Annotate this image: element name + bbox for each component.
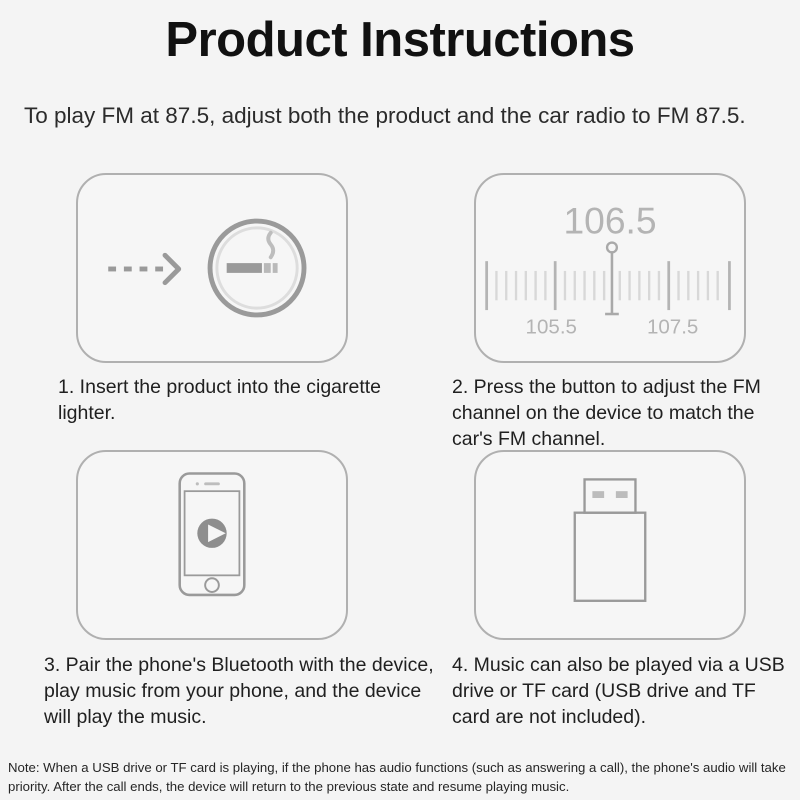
step-3-caption: 3. Pair the phone's Bluetooth with the d…: [44, 652, 434, 730]
home-button: [205, 578, 219, 592]
step-3-illustration-panel: [76, 450, 348, 640]
fm-scale-label-left: 105.5: [526, 316, 577, 339]
usb-flash-drive-icon: [476, 452, 744, 638]
footer-note: Note: When a USB drive or TF card is pla…: [8, 758, 794, 796]
play-button-icon: [197, 519, 226, 548]
cigarette-lighter-socket-icon: [78, 175, 346, 361]
step-1-illustration-panel: [76, 173, 348, 363]
product-instructions-page: Product Instructions To play FM at 87.5,…: [0, 0, 800, 800]
fm-tuner-dial-icon: 106.5: [476, 175, 744, 361]
usb-body: [575, 513, 645, 601]
step-2-caption: 2. Press the button to adjust the FM cha…: [452, 374, 797, 452]
tuner-major-ticks: [487, 261, 730, 310]
tuner-needle: [605, 243, 619, 314]
step-2-illustration-panel: 106.5: [474, 173, 746, 363]
front-camera: [196, 482, 199, 485]
earpiece-speaker: [204, 482, 220, 485]
dashed-arrow-icon: [108, 255, 178, 282]
intro-paragraph: To play FM at 87.5, adjust both the prod…: [24, 100, 780, 131]
page-title: Product Instructions: [0, 14, 800, 68]
cigarette-glyph: [227, 233, 278, 273]
fm-frequency-readout: 106.5: [563, 200, 656, 242]
tuner-minor-ticks: [496, 271, 717, 300]
step-4-illustration-panel: [474, 450, 746, 640]
step-1-caption: 1. Insert the product into the cigarette…: [58, 374, 398, 426]
step-4-caption: 4. Music can also be played via a USB dr…: [452, 652, 797, 730]
fm-scale-label-right: 107.5: [647, 316, 698, 339]
smartphone-with-play-button-icon: [78, 452, 346, 638]
usb-connector: [585, 479, 636, 512]
